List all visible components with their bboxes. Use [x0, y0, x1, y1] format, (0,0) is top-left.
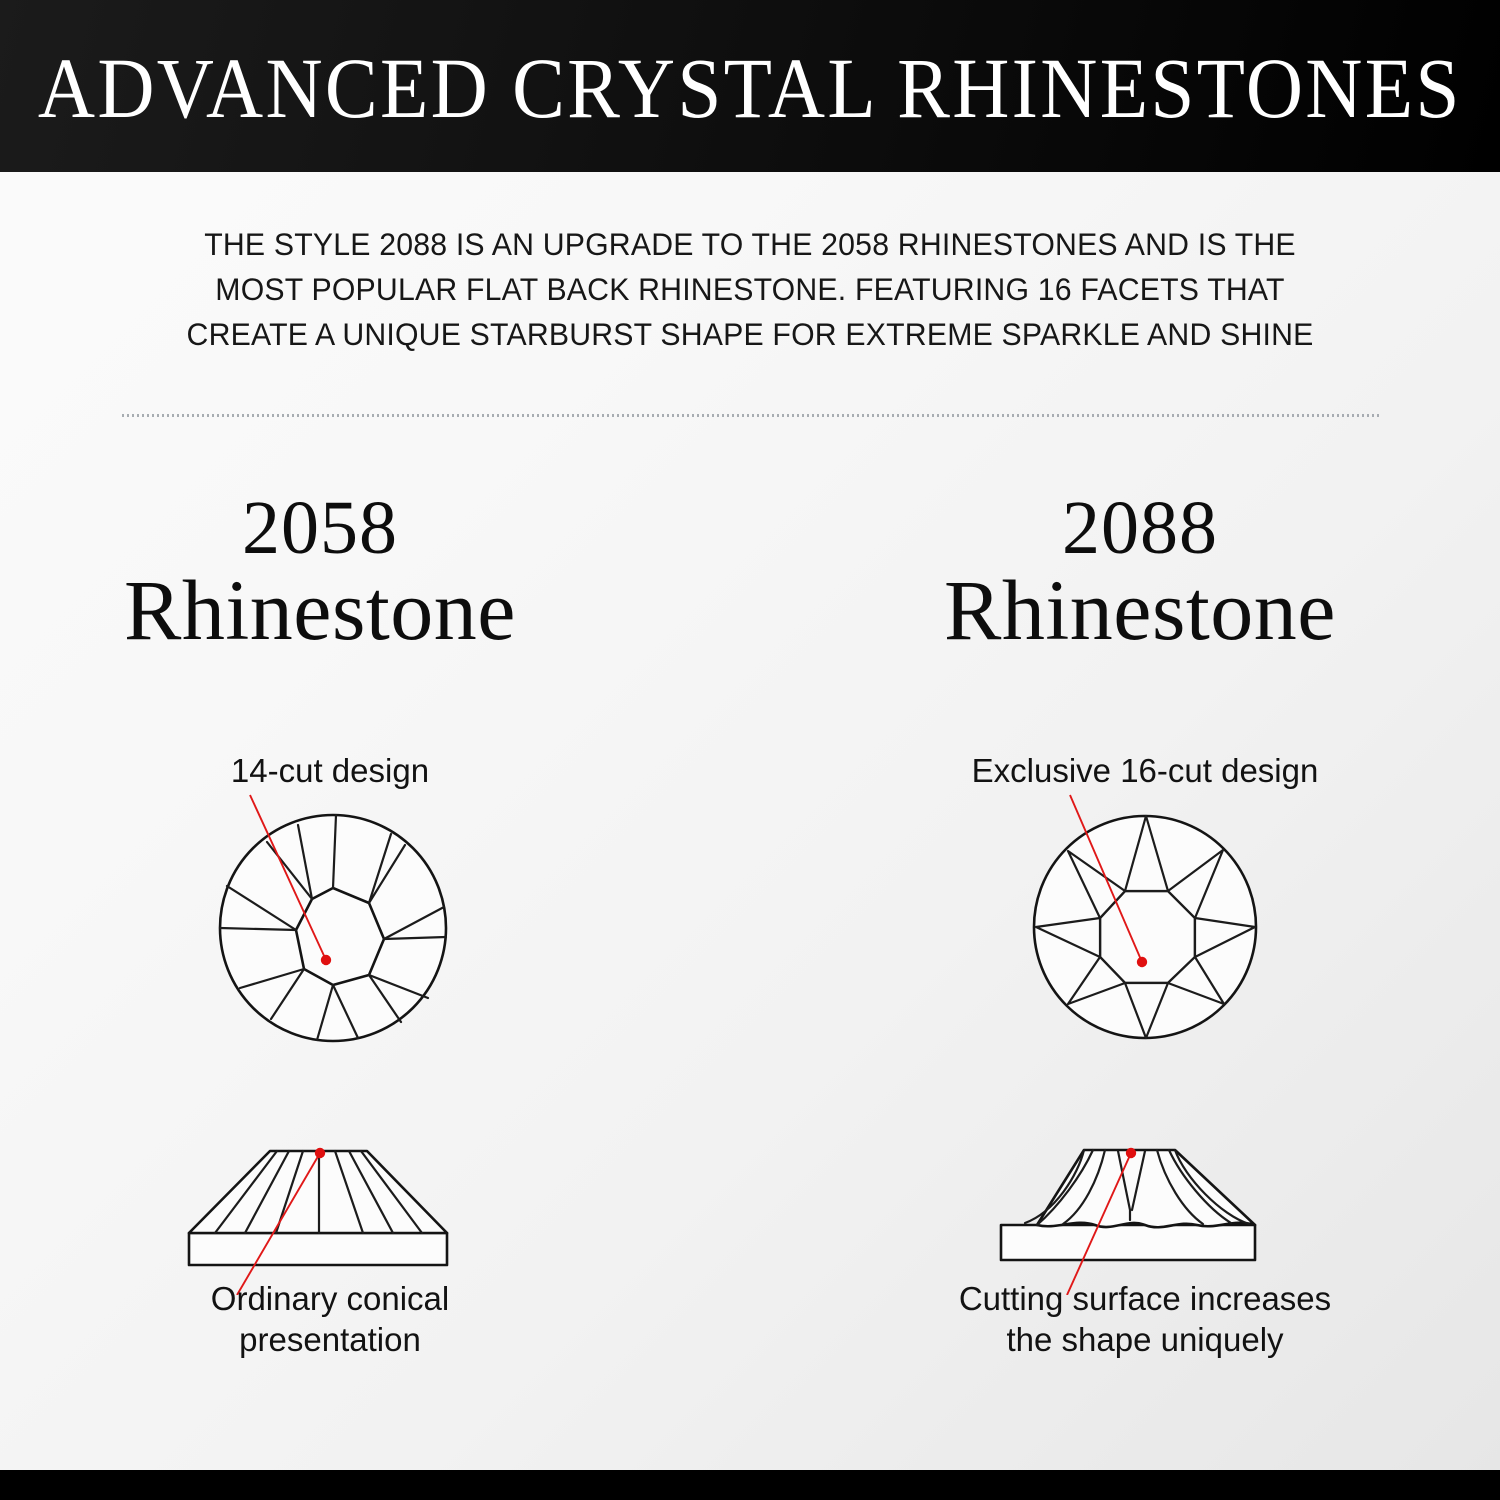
- intro-line-2: MOST POPULAR FLAT BACK RHINESTONE. FEATU…: [136, 267, 1365, 312]
- caption-2088-line-2: the shape uniquely: [845, 1319, 1445, 1360]
- caption-2088-line-1: Cutting surface increases: [845, 1278, 1445, 1319]
- diagram-2058-top-view: [195, 785, 475, 1075]
- intro-paragraph: THE STYLE 2088 IS AN UPGRADE TO THE 2058…: [136, 222, 1365, 357]
- column-word-2088: Rhinestone: [820, 568, 1460, 652]
- intro-line-1: THE STYLE 2088 IS AN UPGRADE TO THE 2058…: [136, 222, 1365, 267]
- dotted-divider: [122, 414, 1380, 417]
- diagram-2058-side-view: [175, 1120, 505, 1295]
- crystal-2088-facets: [1034, 816, 1256, 1038]
- crystal-2058-facets: [220, 815, 446, 1041]
- page-title: ADVANCED CRYSTAL RHINESTONES: [38, 41, 1462, 131]
- intro-line-3: CREATE A UNIQUE STARBURST SHAPE FOR EXTR…: [136, 312, 1365, 357]
- column-number-2058: 2058: [0, 488, 640, 568]
- caption-2058: Ordinary conical presentation: [30, 1278, 630, 1360]
- poster-canvas: ADVANCED CRYSTAL RHINESTONES THE STYLE 2…: [0, 0, 1500, 1500]
- footer-band: [0, 1470, 1500, 1500]
- diagram-2088-side-view: [985, 1120, 1315, 1295]
- column-heading-2058: 2058 Rhinestone: [0, 488, 640, 652]
- caption-2088: Cutting surface increases the shape uniq…: [845, 1278, 1445, 1360]
- column-heading-2088: 2088 Rhinestone: [820, 488, 1460, 652]
- caption-2058-line-1: Ordinary conical: [30, 1278, 630, 1319]
- crystal-2058-profile: [189, 1151, 447, 1265]
- header-banner: ADVANCED CRYSTAL RHINESTONES: [0, 0, 1500, 172]
- crystal-2088-profile: [1001, 1150, 1255, 1260]
- caption-2058-line-2: presentation: [30, 1319, 630, 1360]
- diagram-2088-top-view: [1005, 785, 1285, 1075]
- column-number-2088: 2088: [820, 488, 1460, 568]
- column-word-2058: Rhinestone: [0, 568, 640, 652]
